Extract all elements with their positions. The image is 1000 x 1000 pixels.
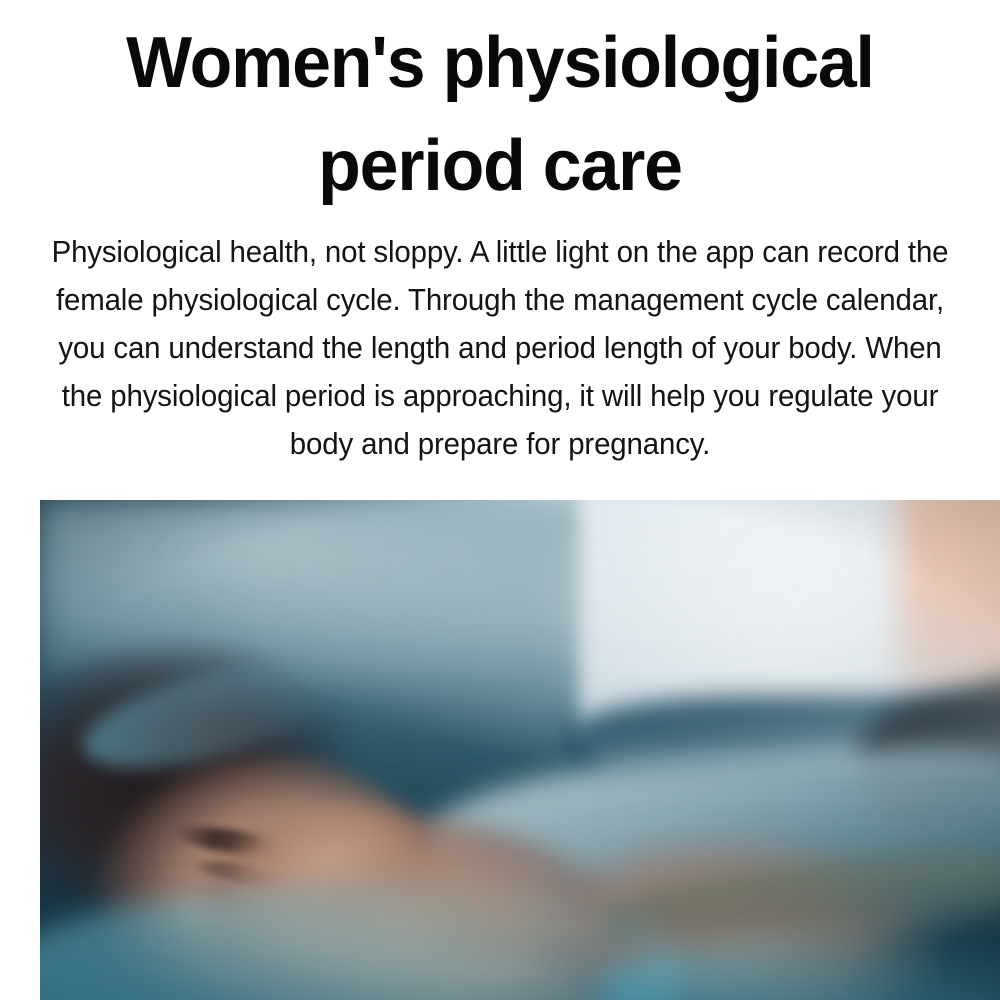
description-paragraph: Physiological health, not sloppy. A litt… bbox=[45, 228, 956, 468]
photo-vignette bbox=[40, 500, 1000, 1000]
page-title: Women's physiological period care bbox=[34, 12, 965, 218]
product-detail-page: Women's physiological period care Physio… bbox=[0, 0, 1000, 1000]
lifestyle-photo: Hi-08 8026 LI-16 Beginning 14-35 1/8 Men… bbox=[40, 500, 1000, 1000]
text-section: Women's physiological period care Physio… bbox=[0, 0, 1000, 484]
